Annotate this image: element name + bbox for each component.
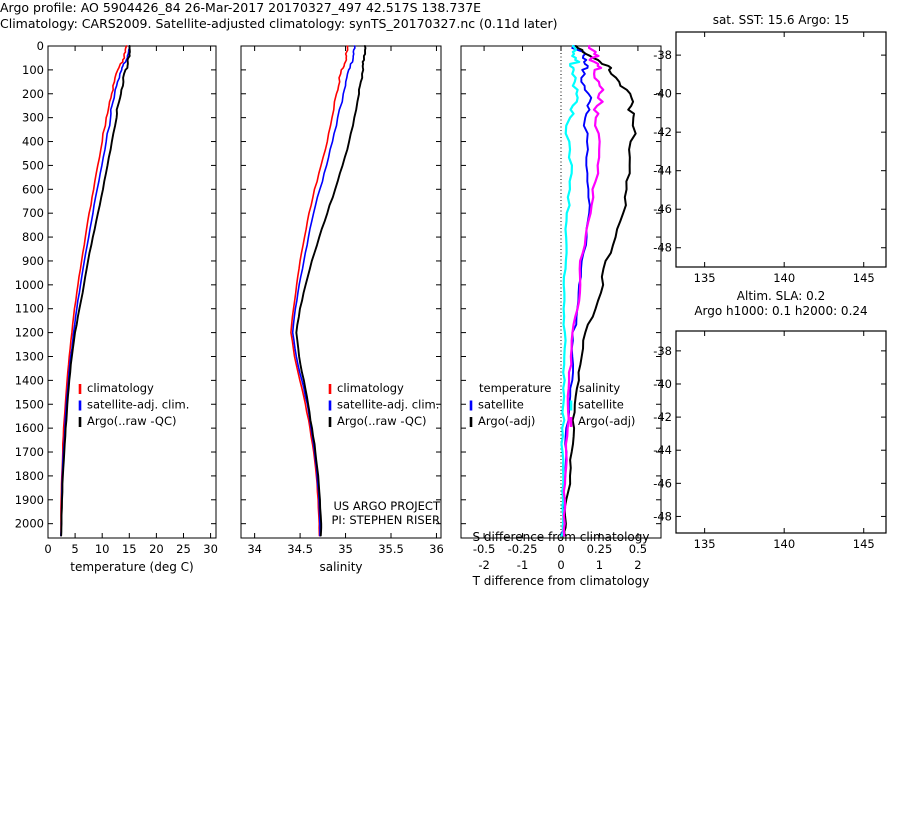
map-y-tick-label: -48: [653, 241, 672, 255]
sla-map-frame: 135140145-38-40-42-44-46-48Altim. SLA: 0…: [660, 288, 900, 580]
panel-map-sla: 135140145-38-40-42-44-46-48Altim. SLA: 0…: [660, 288, 900, 580]
map-y-tick-label: -40: [653, 377, 672, 391]
panel-difference: -2-1012-0.5-0.2500.250.5S difference fro…: [455, 40, 680, 580]
map-x-tick-label: 135: [694, 537, 716, 551]
panel-temperature: 0100200300400500600700800900100011001200…: [0, 40, 240, 580]
y-tick-label: 700: [22, 206, 44, 220]
x-tick-label: 35: [338, 542, 353, 556]
map-y-tick-label: -44: [653, 164, 672, 178]
profile-line-satellite-adj--clim-: [61, 46, 130, 536]
title-line-1: Argo profile: AO 5904426_84 26-Mar-2017 …: [0, 0, 481, 15]
x-tick-label: 25: [176, 542, 191, 556]
profile-line-climatology: [291, 46, 348, 536]
map-x-tick-label: 145: [853, 537, 875, 551]
panel-salinity: 3434.53535.536salinityclimatologysatelli…: [235, 40, 460, 580]
y-tick-label: 600: [22, 182, 44, 196]
x-axis-label-bottom: T difference from climatology: [472, 574, 650, 588]
y-tick-label: 100: [22, 63, 44, 77]
x-tick-label: 34: [247, 542, 262, 556]
x-axis-label: salinity: [319, 560, 362, 574]
x-tick-label: 20: [149, 542, 164, 556]
map-x-tick-label: 140: [773, 537, 795, 551]
salinity-plot: 3434.53535.536salinityclimatologysatelli…: [235, 40, 460, 580]
map-x-tick-label: 145: [853, 271, 875, 285]
plot-frame: [48, 46, 216, 538]
x-tick-label: 30: [203, 542, 218, 556]
map-frame: [676, 32, 886, 267]
project-credit-line-1: US ARGO PROJECT: [333, 499, 441, 513]
x-tick-label-top: 0: [557, 542, 564, 556]
y-tick-label: 1900: [15, 493, 44, 507]
x-tick-label-bottom: 0: [557, 558, 564, 572]
map-x-tick-label: 140: [773, 271, 795, 285]
map-y-tick-label: -48: [653, 509, 672, 523]
temperature-plot: 0100200300400500600700800900100011001200…: [0, 40, 240, 580]
legend-label: satellite-adj. clim.: [87, 398, 189, 412]
plot-frame: [241, 46, 441, 538]
legend-header-salinity: salinity: [579, 381, 620, 395]
x-axis-label: temperature (deg C): [70, 560, 193, 574]
sla-map-title-line-1: Altim. SLA: 0.2: [737, 289, 825, 303]
y-tick-label: 200: [22, 87, 44, 101]
project-credit-line-2: PI: STEPHEN RISER: [332, 513, 441, 527]
map-y-tick-label: -42: [653, 125, 672, 139]
y-tick-label: 0: [37, 39, 44, 53]
sst-map-frame: 135140145-38-40-42-44-46-48sat. SST: 15.…: [660, 8, 900, 293]
x-tick-label: 5: [71, 542, 78, 556]
map-y-tick-label: -44: [653, 443, 672, 457]
x-tick-label: 34.5: [287, 542, 313, 556]
y-tick-label: 2000: [15, 517, 44, 531]
legend-label: climatology: [87, 381, 154, 395]
map-y-tick-label: -42: [653, 410, 672, 424]
y-tick-label: 500: [22, 158, 44, 172]
x-tick-label-top: -0.25: [508, 542, 538, 556]
x-tick-label-bottom: -1: [517, 558, 528, 572]
y-tick-label: 800: [22, 230, 44, 244]
x-tick-label-bottom: 1: [596, 558, 603, 572]
map-frame: [676, 331, 886, 533]
legend-label: Argo(..raw -QC): [87, 414, 177, 428]
y-tick-label: 1800: [15, 469, 44, 483]
x-tick-label: 36: [429, 542, 444, 556]
panel-map-sst: 135140145-38-40-42-44-46-48sat. SST: 15.…: [660, 8, 900, 293]
x-axis-label-top: S difference from climatology: [473, 530, 650, 544]
legend-label: climatology: [337, 381, 404, 395]
legend-label: satellite-adj. clim.: [337, 398, 439, 412]
legend-label: Argo(-adj): [478, 414, 535, 428]
difference-line-temperature-argo--adj-: [564, 46, 635, 536]
y-tick-label: 1400: [15, 373, 44, 387]
y-tick-label: 1200: [15, 326, 44, 340]
y-tick-label: 1100: [15, 302, 44, 316]
page-title: Argo profile: AO 5904426_84 26-Mar-2017 …: [0, 0, 640, 32]
legend-label: satellite: [578, 398, 624, 412]
y-tick-label: 900: [22, 254, 44, 268]
x-tick-label-top: -0.5: [473, 542, 495, 556]
x-tick-label-bottom: -2: [478, 558, 489, 572]
legend-label: Argo(-adj): [578, 414, 635, 428]
x-tick-label: 0: [44, 542, 51, 556]
legend-header-temperature: temperature: [479, 381, 551, 395]
difference-plot: -2-1012-0.5-0.2500.250.5S difference fro…: [455, 40, 680, 580]
y-tick-label: 1600: [15, 421, 44, 435]
sla-map-title-line-2: Argo h1000: 0.1 h2000: 0.24: [694, 304, 867, 318]
map-y-tick-label: -46: [653, 476, 672, 490]
y-tick-label: 1700: [15, 445, 44, 459]
map-y-tick-label: -40: [653, 87, 672, 101]
legend-label: Argo(..raw -QC): [337, 414, 427, 428]
x-tick-label-top: 0.25: [587, 542, 613, 556]
y-tick-label: 1300: [15, 349, 44, 363]
y-tick-label: 1000: [15, 278, 44, 292]
x-tick-label-top: 0.5: [629, 542, 647, 556]
legend-label: satellite: [478, 398, 524, 412]
map-x-tick-label: 135: [694, 271, 716, 285]
y-tick-label: 300: [22, 111, 44, 125]
sst-map-title: sat. SST: 15.6 Argo: 15: [713, 13, 850, 27]
y-tick-label: 1500: [15, 397, 44, 411]
x-tick-label: 10: [95, 542, 110, 556]
map-y-tick-label: -38: [653, 48, 672, 62]
map-y-tick-label: -46: [653, 202, 672, 216]
x-tick-label-bottom: 2: [634, 558, 641, 572]
x-tick-label: 15: [122, 542, 137, 556]
map-y-tick-label: -38: [653, 344, 672, 358]
title-line-2: Climatology: CARS2009. Satellite-adjuste…: [0, 16, 557, 31]
profile-line-argo---raw--qc-: [61, 46, 130, 536]
profile-line-satellite-adj--clim-: [293, 46, 355, 536]
y-tick-label: 400: [22, 135, 44, 149]
x-tick-label: 35.5: [378, 542, 404, 556]
